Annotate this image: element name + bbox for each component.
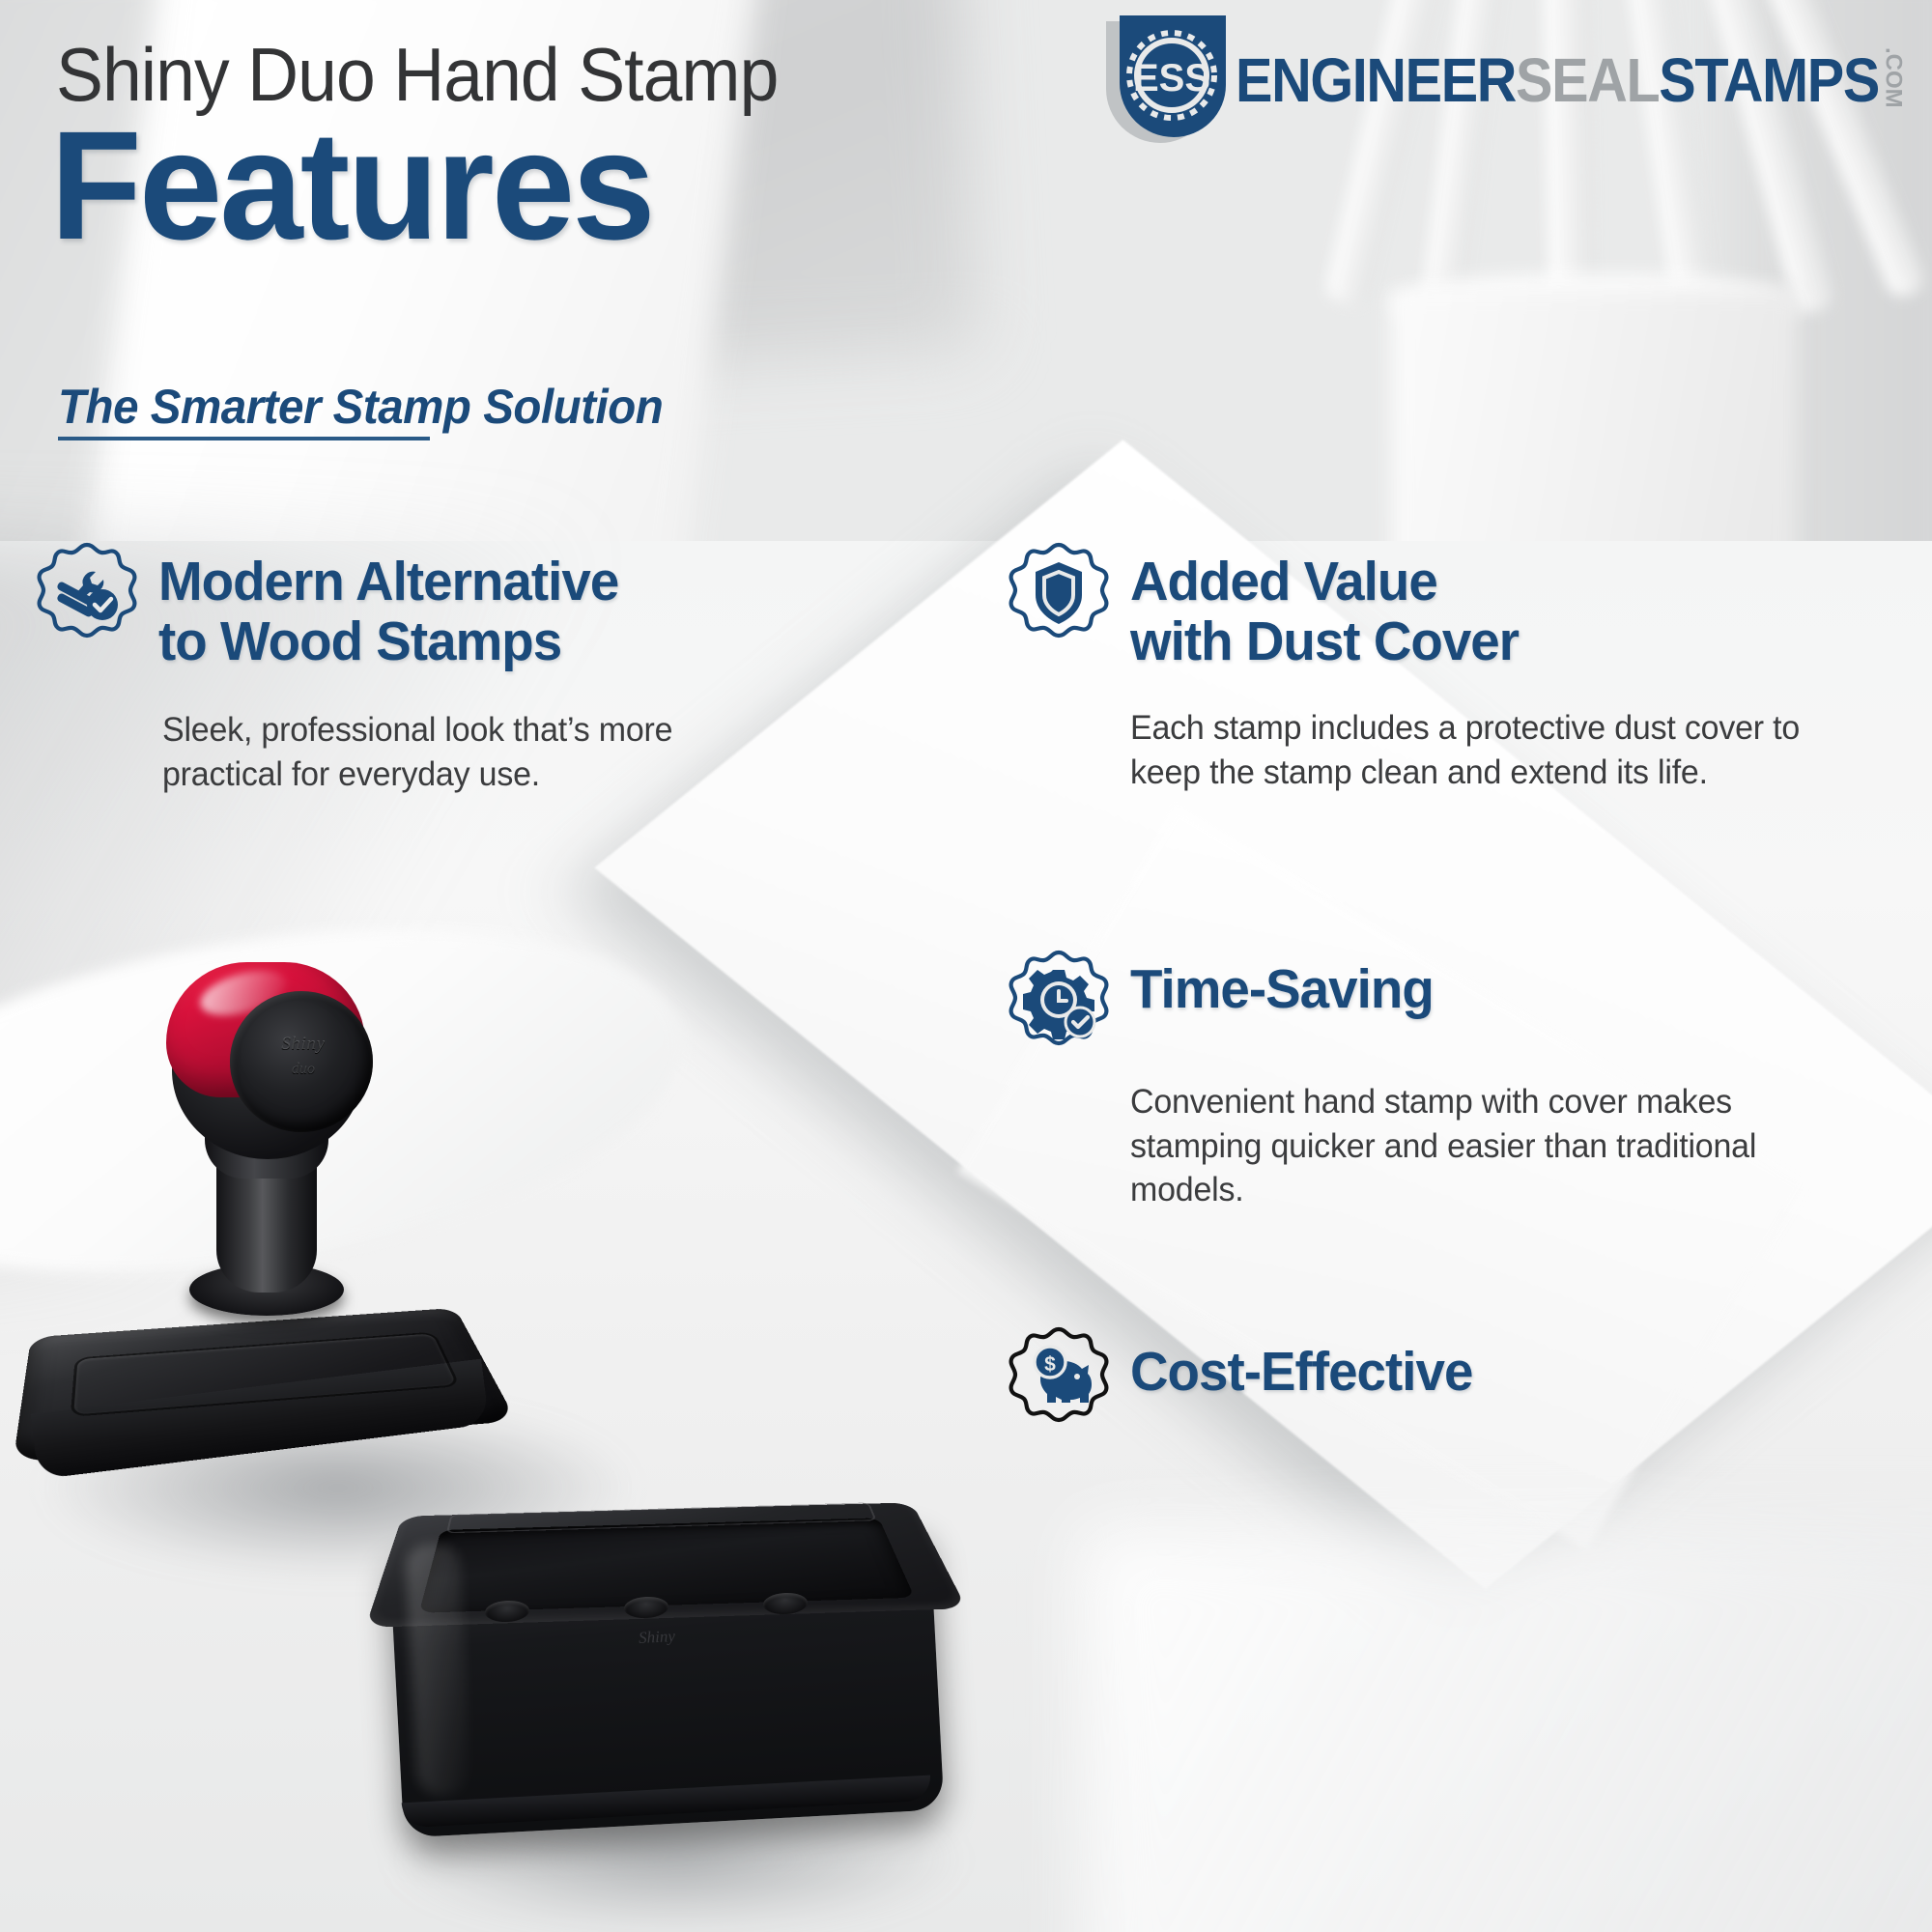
logo-word-seal: SEAL	[1516, 49, 1659, 111]
logo-word-stamps: STAMPS	[1659, 49, 1879, 111]
ess-logo-text: ESS	[1133, 57, 1210, 99]
feature-added-value-dust-cover: Added Value with Dust Cover Each stamp i…	[1007, 541, 1876, 794]
shield-badge-icon	[1007, 541, 1111, 653]
feature-title-line-1: Modern Alternative	[158, 551, 618, 612]
feature-body-text: Convenient hand stamp with cover makes s…	[1130, 1080, 1854, 1212]
feature-title-line-2: to Wood Stamps	[158, 611, 561, 672]
logo-word-engineer: ENGINEER	[1236, 49, 1516, 111]
gear-clock-check-badge-icon	[1007, 949, 1111, 1061]
page-headline: Features	[50, 108, 653, 263]
feature-body-text: Sleek, professional look that’s more pra…	[162, 708, 751, 796]
page-subheadline: The Smarter Stamp Solution	[58, 379, 663, 435]
feature-modern-alternative: Modern Alternative to Wood Stamps Sleek,…	[35, 541, 769, 796]
feature-title-line-1: Cost-Effective	[1130, 1341, 1472, 1403]
svg-text:$: $	[1044, 1353, 1056, 1376]
subheadline-underline	[58, 437, 430, 440]
feature-cost-effective: $ Cost-Effective	[1007, 1325, 1876, 1437]
feature-title-line-2: with Dust Cover	[1130, 611, 1519, 672]
feature-body-text: Each stamp includes a protective dust co…	[1130, 706, 1854, 794]
ess-gear-shield-logo-icon: ESS	[1106, 14, 1230, 145]
ess-logo[interactable]: ESS ENGINEER SEAL STAMPS .COM	[1106, 14, 1932, 145]
feature-title-line-1: Time-Saving	[1130, 958, 1434, 1020]
feature-title-line-1: Added Value	[1130, 551, 1437, 612]
feature-time-saving: Time-Saving Convenient hand stamp with c…	[1007, 949, 1876, 1212]
wrench-check-badge-icon	[35, 541, 139, 653]
piggy-bank-coin-badge-icon: $	[1007, 1325, 1111, 1437]
logo-word-dotcom: .COM	[1881, 47, 1904, 108]
